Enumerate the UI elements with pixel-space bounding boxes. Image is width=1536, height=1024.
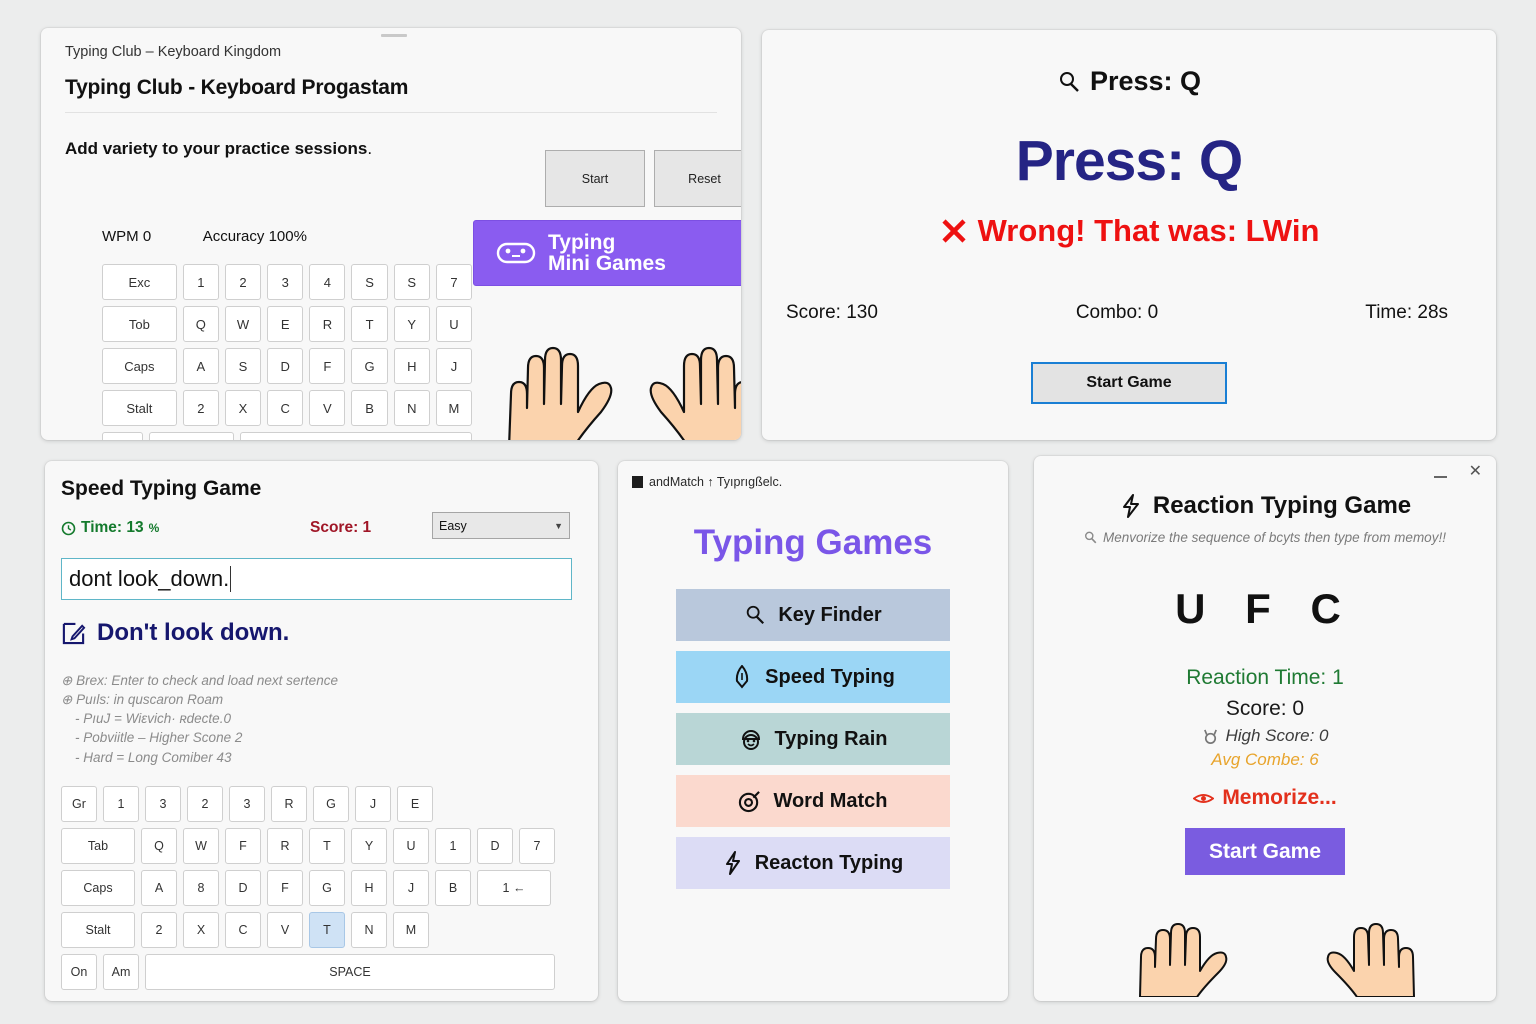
cloud-face-icon — [739, 728, 763, 750]
magnifier-icon — [1057, 70, 1081, 94]
key-f[interactable]: F — [309, 348, 345, 384]
key-d[interactable]: D — [225, 870, 261, 906]
key-s[interactable]: S — [394, 264, 430, 300]
key-t[interactable]: T — [309, 912, 345, 948]
key-2[interactable]: 2 — [225, 264, 261, 300]
key-caps[interactable]: Caps — [102, 348, 177, 384]
typing-input[interactable]: dont look_down. — [61, 558, 572, 600]
key-2[interactable]: 2 — [141, 912, 177, 948]
key-r[interactable]: R — [309, 306, 345, 342]
key-w[interactable]: W — [225, 306, 261, 342]
stopwatch-icon — [61, 521, 76, 536]
game-menu-list: Key FinderSpeed TypingTyping RainWord Ma… — [618, 589, 1008, 889]
key-q[interactable]: Q — [183, 306, 219, 342]
key-v[interactable]: V — [309, 390, 345, 426]
key-d[interactable]: D — [477, 828, 513, 864]
key-3[interactable]: 3 — [145, 786, 181, 822]
target-icon — [738, 790, 761, 813]
key-y[interactable]: Y — [394, 306, 430, 342]
key-x[interactable]: X — [183, 912, 219, 948]
tagline-text: Add variety to your practice sessions — [65, 139, 367, 158]
key-q[interactable]: Q — [141, 828, 177, 864]
keyboard-row: CapsA8DFGHJB1 ← — [61, 870, 555, 906]
key-y[interactable]: Y — [351, 828, 387, 864]
key-a[interactable]: A — [183, 348, 219, 384]
time-indicator: Time: 13% — [61, 519, 159, 537]
keyboard-row: Gr1323RGJE — [61, 786, 555, 822]
page-title: Typing Games — [618, 523, 1008, 563]
reaction-time: Reaction Time: 1 — [1034, 666, 1496, 690]
key-e[interactable]: E — [397, 786, 433, 822]
window-title: Typing Club – Keyboard Kingdom — [65, 44, 281, 60]
keyboard-row: CapsASDFGHJ — [102, 348, 472, 384]
game-menu-item-word-match[interactable]: Word Match — [676, 775, 950, 827]
game-menu-item-label: Key Finder — [778, 604, 881, 627]
key-j[interactable]: J — [393, 870, 429, 906]
key-n[interactable]: N — [351, 912, 387, 948]
magnifier-icon — [744, 604, 766, 626]
minimize-icon[interactable] — [381, 34, 407, 37]
pencil-square-icon — [61, 621, 86, 646]
sentence-text: Don't look down. — [97, 619, 289, 647]
hands-illustration — [1132, 911, 1422, 997]
key-g[interactable]: G — [309, 870, 345, 906]
time-value: Time: 28s — [1227, 302, 1496, 324]
start-game-button[interactable]: Start Game — [1031, 362, 1227, 404]
key-r[interactable]: R — [267, 828, 303, 864]
key-s[interactable]: S — [351, 264, 387, 300]
tagline-box: Add variety to your practice sessions. — [65, 121, 513, 181]
key-b[interactable]: B — [351, 390, 387, 426]
key-h[interactable]: H — [351, 870, 387, 906]
window-title: andMatch ↑ Tyıprıgßelc. — [649, 475, 782, 489]
typing-input-value: dont look_down. — [69, 566, 229, 592]
key-u[interactable]: U — [393, 828, 429, 864]
key-on[interactable]: On — [61, 954, 97, 990]
hint-line: - PıиJ = Wiɛvich· ʀdecte.0 — [61, 709, 338, 728]
page-title: Reaction Typing Game — [1034, 492, 1496, 520]
hint-line: ⊕ Puıls: in quscaron Roaт — [61, 690, 338, 709]
key-c[interactable]: C — [225, 912, 261, 948]
key-finder-window: Press: Q Press: Q Wrong! That was: LWin … — [762, 30, 1496, 440]
page-title: Typing Club - Keyboard Progastam — [65, 76, 408, 100]
key-1[interactable]: 1 — [103, 786, 139, 822]
key-f[interactable]: F — [267, 870, 303, 906]
magnifier-icon — [1084, 531, 1097, 544]
press-header: Press: Q — [762, 66, 1496, 97]
key-exc[interactable]: Exc — [102, 264, 177, 300]
key-tob[interactable]: Tob — [102, 306, 177, 342]
start-game-button[interactable]: Start Game — [1185, 828, 1345, 875]
game-menu-item-typing-rain[interactable]: Typing Rain — [676, 713, 950, 765]
key-4[interactable]: 4 — [309, 264, 345, 300]
hint-text: Puıls: in quscaron Roaт — [76, 692, 223, 707]
key-m[interactable]: M — [436, 390, 472, 426]
key-7[interactable]: 7 — [436, 264, 472, 300]
key-h[interactable]: H — [394, 348, 430, 384]
typing-games-menu-window: andMatch ↑ Tyıprıgßelc. Typing Games Key… — [618, 461, 1008, 1001]
key-t[interactable]: T — [309, 828, 345, 864]
key-space[interactable]: SPACE — [145, 954, 555, 990]
medal-icon — [1202, 728, 1219, 745]
key-stalt[interactable]: Stalt — [102, 390, 177, 426]
key-d[interactable]: D — [267, 348, 303, 384]
combo-value: Combo: 0 — [1007, 302, 1228, 324]
key-t[interactable]: T — [351, 306, 387, 342]
key-b[interactable]: B — [435, 870, 471, 906]
key-space[interactable]: SPACE — [240, 432, 472, 440]
window-controls: ✕ — [1434, 464, 1482, 480]
typing-mini-games-button[interactable]: Typing Mini Games — [473, 220, 741, 286]
start-button[interactable]: Start — [545, 150, 645, 207]
hint-line: ⊕ Brex: Enter to check and load next ser… — [61, 671, 338, 690]
key-gn[interactable]: Gn — [102, 432, 143, 440]
key-3[interactable]: 3 — [267, 264, 303, 300]
key-stalt[interactable]: Stalt — [61, 912, 135, 948]
minimize-icon[interactable] — [1434, 476, 1447, 478]
key-am[interactable]: Am — [103, 954, 139, 990]
key-3[interactable]: 3 — [229, 786, 265, 822]
key-1[interactable]: 1 — [183, 264, 219, 300]
keyboard-row: TobQWERTYU — [102, 306, 472, 342]
key-u[interactable]: U — [436, 306, 472, 342]
game-menu-item-label: Speed Typing — [765, 666, 895, 689]
rocket-icon — [731, 665, 753, 689]
key-k-[interactable]: Kıı — [149, 432, 234, 440]
key-gr[interactable]: Gr — [61, 786, 97, 822]
wpm-label: WPM — [102, 228, 139, 245]
typing-club-window: Typing Club – Keyboard Kingdom Typing Cl… — [41, 28, 741, 440]
key-n[interactable]: N — [394, 390, 430, 426]
key-a[interactable]: A — [141, 870, 177, 906]
key-e[interactable]: E — [267, 306, 303, 342]
big-prompt: Press: Q — [762, 128, 1496, 194]
cross-icon — [939, 216, 969, 246]
key-m[interactable]: M — [393, 912, 429, 948]
score-row: Score: 130 Combo: 0 Time: 28s — [762, 302, 1496, 324]
target-sentence: Don't look down. — [61, 619, 289, 647]
game-menu-item-label: Word Match — [773, 790, 887, 813]
page-title: Speed Typing Game — [61, 477, 261, 501]
time-label: Time: 13 — [81, 519, 144, 537]
key-2[interactable]: 2 — [183, 390, 219, 426]
press-header-text: Press: Q — [1090, 66, 1201, 97]
minigames-line-2: Mini Games — [548, 253, 666, 274]
app-logo-icon — [632, 476, 643, 488]
gamepad-icon — [496, 239, 536, 267]
key-7[interactable]: 7 — [519, 828, 555, 864]
score-value: Score: 130 — [762, 302, 1007, 324]
key-v[interactable]: V — [267, 912, 303, 948]
accuracy-label: Accuracy — [203, 228, 265, 245]
bolt-icon — [723, 851, 743, 875]
close-icon[interactable]: ✕ — [1469, 464, 1482, 480]
key-caps[interactable]: Caps — [61, 870, 135, 906]
chevron-down-icon: ▼ — [554, 521, 563, 531]
minigames-line-1: Typing — [548, 232, 666, 253]
wrong-text: Wrong! That was: LWin — [978, 213, 1320, 249]
key-g[interactable]: G — [313, 786, 349, 822]
game-menu-item-speed-typing[interactable]: Speed Typing — [676, 651, 950, 703]
tagline-period: . — [367, 139, 372, 158]
hint-line: - Hard = Long Comiber 43 — [61, 748, 338, 767]
keyboard-row: Stalt2XCVTNM — [61, 912, 555, 948]
divider — [65, 112, 717, 113]
memorize-status: Memorize... — [1034, 786, 1496, 810]
memorize-text: Memorize... — [1222, 786, 1336, 810]
reaction-typing-window: ✕ Reaction Typing Game Menvorize the seq… — [1034, 456, 1496, 1001]
keyboard-row: Stalt2XCVBNM — [102, 390, 472, 426]
key-c[interactable]: C — [267, 390, 303, 426]
text-caret — [230, 566, 231, 592]
wrong-message: Wrong! That was: LWin — [762, 213, 1496, 249]
keyboard-row: GnKııSPACE — [102, 432, 472, 440]
subtitle: Menvorize the sequence of bcyts then typ… — [1034, 530, 1496, 545]
onscreen-keyboard[interactable]: Gr1323RGJETabQWFRTYU1D7CapsA8DFGHJB1 ←St… — [61, 786, 555, 996]
difficulty-value: Easy — [439, 519, 467, 533]
key-x[interactable]: X — [225, 390, 261, 426]
keyboard-row: OnAmSPACE — [61, 954, 555, 990]
key-1-[interactable]: 1 ← — [477, 870, 551, 906]
high-score: High Score: 0 — [1034, 726, 1496, 746]
hints-block: ⊕ Brex: Enter to check and load next ser… — [61, 671, 338, 767]
score-value: Score: 0 — [1034, 697, 1496, 721]
game-menu-item-reacton-typing[interactable]: Reacton Typing — [676, 837, 950, 889]
reset-button[interactable]: Reset — [654, 150, 741, 207]
window-title-bar: andMatch ↑ Tyıprıgßelc. — [632, 475, 782, 489]
key-j[interactable]: J — [436, 348, 472, 384]
game-menu-item-label: Reacton Typing — [755, 852, 904, 875]
key-j[interactable]: J — [355, 786, 391, 822]
key-r[interactable]: R — [271, 786, 307, 822]
avg-combo: Avg Combe: 6 — [1034, 750, 1496, 770]
score-label: Score: 1 — [310, 519, 371, 537]
high-score-text: High Score: 0 — [1226, 726, 1329, 746]
game-menu-item-label: Typing Rain — [775, 728, 888, 751]
onscreen-keyboard[interactable]: Exc1234SS7TobQWERTYUCapsASDFGHJStalt2XCV… — [102, 264, 472, 440]
time-percent: % — [149, 521, 160, 535]
keyboard-row: Exc1234SS7 — [102, 264, 472, 300]
keyboard-row: TabQWFRTYU1D7 — [61, 828, 555, 864]
hands-illustration — [501, 316, 741, 440]
tagline: Add variety to your practice sessions. — [65, 121, 513, 159]
page-title-text: Reaction Typing Game — [1153, 492, 1411, 520]
bolt-icon — [1119, 493, 1143, 519]
sequence-letters: U F C — [1034, 585, 1496, 633]
eye-icon — [1193, 791, 1214, 806]
stats-row: WPM 0 Accuracy 100% — [102, 228, 307, 245]
hint-line: - Pobviitle – Higher Scone 2 — [61, 728, 338, 747]
key-g[interactable]: G — [351, 348, 387, 384]
game-menu-item-key-finder[interactable]: Key Finder — [676, 589, 950, 641]
key-8[interactable]: 8 — [183, 870, 219, 906]
wpm-value: 0 — [143, 228, 151, 245]
difficulty-select[interactable]: Easy ▼ — [432, 512, 570, 539]
speed-typing-window: Speed Typing Game Time: 13% Score: 1 Eas… — [45, 461, 598, 1001]
key-s[interactable]: S — [225, 348, 261, 384]
key-tab[interactable]: Tab — [61, 828, 135, 864]
hint-text: Brex: Enter to check and load next serte… — [76, 673, 338, 688]
subtitle-text: Menvorize the sequence of bcyts then typ… — [1103, 530, 1446, 545]
key-w[interactable]: W — [183, 828, 219, 864]
accuracy-value: 100% — [269, 228, 307, 245]
key-2[interactable]: 2 — [187, 786, 223, 822]
key-f[interactable]: F — [225, 828, 261, 864]
key-1[interactable]: 1 — [435, 828, 471, 864]
